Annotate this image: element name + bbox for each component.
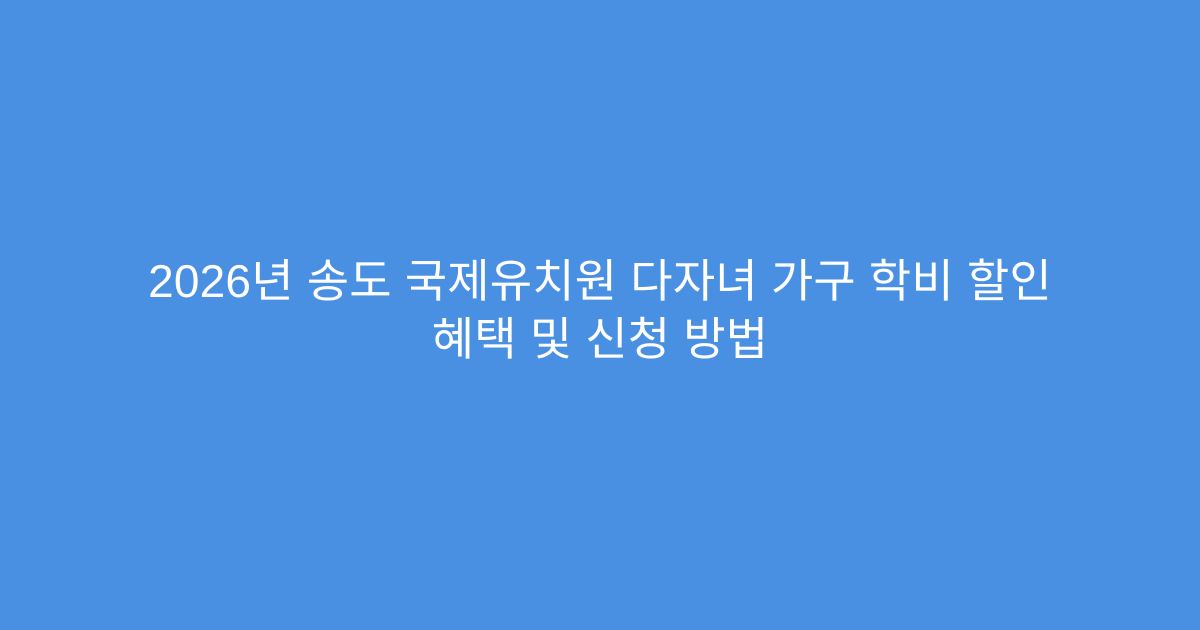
og-thumbnail-card: 2026년 송도 국제유치원 다자녀 가구 학비 할인 혜택 및 신청 방법 bbox=[0, 0, 1200, 630]
page-title: 2026년 송도 국제유치원 다자녀 가구 학비 할인 혜택 및 신청 방법 bbox=[80, 252, 1120, 368]
title-line-1: 2026년 송도 국제유치원 다자녀 가구 학비 할인 bbox=[80, 252, 1120, 310]
title-line-2: 혜택 및 신청 방법 bbox=[80, 310, 1120, 368]
